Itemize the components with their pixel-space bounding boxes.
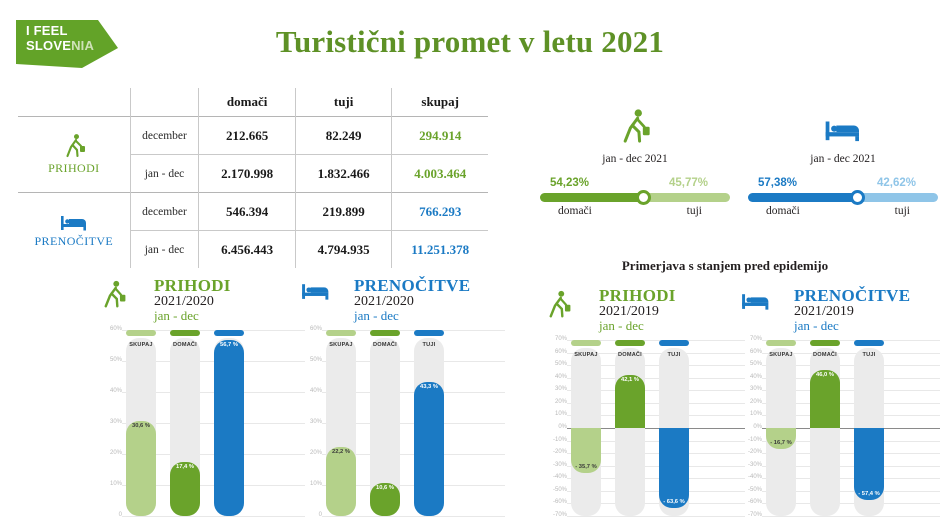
y-axis-tick: -40% [740,474,762,480]
slider-date: jan - dec 2021 [748,153,938,165]
plot-area: 010%20%30%40%50%60%SKUPAJ30,6 %DOMAČI17,… [100,330,305,516]
slider-labels: domači tuji [748,205,938,221]
chart-icon [300,280,332,306]
row-group-prihodi: PRIHODI [18,117,130,193]
y-axis-tick: -10% [545,437,567,443]
y-axis-tick: 30% [300,419,322,425]
bar [126,421,156,516]
bar-cap [170,330,200,336]
bar-category-label: DOMAČI [810,352,840,358]
chart-period: jan - dec [154,309,199,323]
y-axis-tick: 10% [545,411,567,417]
row-group-prenocitve: PRENOČITVE [18,193,130,269]
bar-cap [414,330,444,336]
bar-value-label: - 35,7 % [571,464,601,470]
bar-category-label: TUJI [659,352,689,358]
bar-cap [571,340,601,346]
bar-column: DOMAČI17,4 % [170,330,200,516]
bar-value-label: 43,3 % [414,384,444,390]
chart-header: PRENOČITVE2021/2019jan - dec [740,288,940,340]
y-axis-tick: 20% [300,450,322,456]
share-slider-prenocitve[interactable]: jan - dec 2021 57,38% 42,62% domači tuji [748,108,938,221]
chart-icon [545,290,572,327]
bar-track [615,348,645,516]
cell-domaci: 2.170.998 [199,155,296,193]
slider-handle[interactable] [850,190,865,205]
y-axis-tick: 50% [100,357,122,363]
chart-subtitle: 2021/2020 [354,294,414,309]
slider-right-label: tuji [687,205,702,217]
chart-prenocitve-2021-2020: PRENOČITVE2021/2020jan - dec010%20%30%40… [300,278,505,524]
bar-value-label: - 16,7 % [766,440,796,446]
y-axis-tick: 60% [545,349,567,355]
cell-domaci: 546.394 [199,193,296,231]
y-axis-tick: 50% [300,357,322,363]
cell-period: jan - dec [130,155,199,193]
bar-cap [370,330,400,336]
y-axis-tick: 20% [740,399,762,405]
y-axis-tick: 0% [545,424,567,430]
gridline [122,516,305,517]
y-axis-tick: 20% [545,399,567,405]
y-axis-tick: 0 [100,512,122,518]
cell-domaci: 212.665 [199,117,296,155]
summary-table: domači tuji skupaj PRIHODI december 212.… [18,88,488,268]
bar-value-label: 10,6 % [370,485,400,491]
bar-value-label: 46,0 % [810,372,840,378]
y-axis-tick: -60% [740,499,762,505]
bar-category-label: DOMAČI [615,352,645,358]
bar-column: SKUPAJ22,2 % [326,330,356,516]
walking-tourist-icon [100,280,127,312]
y-axis-tick: -30% [740,462,762,468]
chart-subtitle: 2021/2019 [794,304,854,319]
slider-left-label: domači [558,205,592,217]
slider-handle[interactable] [636,190,651,205]
page-title: Turistični promet v letu 2021 [0,24,940,60]
y-axis-tick: 0 [300,512,322,518]
slider-date: jan - dec 2021 [540,153,730,165]
y-axis-tick: 60% [100,326,122,332]
walking-tourist-icon [61,133,87,159]
slider-fill [540,193,643,202]
bar-value-label: 30,6 % [126,423,156,429]
header-blank-1 [18,88,130,117]
bed-icon [59,212,89,232]
plot-area: 70%60%50%40%30%20%10%0%-10%-20%-30%-40%-… [545,340,745,516]
bar-column: DOMAČI10,6 % [370,330,400,516]
bar [810,370,840,428]
y-axis-tick: 10% [740,411,762,417]
bar-column: TUJI43,3 % [414,330,444,516]
y-axis-tick: 30% [740,386,762,392]
cell-period: jan - dec [130,231,199,269]
header-blank-2 [130,88,199,117]
bar-column: SKUPAJ30,6 % [126,330,156,516]
y-axis-tick: -20% [740,449,762,455]
y-axis-tick: -40% [545,474,567,480]
slider-left-label: domači [766,205,800,217]
y-axis-tick: 70% [545,336,567,342]
gridline [567,516,745,517]
bar-cap [326,330,356,336]
chart-subtitle: 2021/2019 [599,304,659,319]
bar-value-label: 42,1 % [615,377,645,383]
slider-remainder [643,193,730,202]
row-label-prenocitve: PRENOČITVE [34,234,113,248]
bar-column: SKUPAJ- 16,7 % [766,340,796,516]
chart-prihodi-2021-2019: PRIHODI2021/2019jan - dec70%60%50%40%30%… [545,288,745,524]
bar-category-label: DOMAČI [170,342,200,348]
bar-column: TUJI56,7 % [214,330,244,516]
slider-right-percent: 42,62% [877,177,916,189]
bar [854,428,884,500]
cell-tuji: 219.899 [295,193,392,231]
bar [170,462,200,516]
cell-tuji: 1.832.466 [295,155,392,193]
bar-cap [854,340,884,346]
bar [414,382,444,516]
bar-cap [126,330,156,336]
infographic-page: I FEEL SLOVENIA Turistični promet v letu… [0,0,940,528]
slider-left-percent: 54,23% [550,177,589,189]
bar-value-label: 22,2 % [326,449,356,455]
bar-column: SKUPAJ- 35,7 % [571,340,601,516]
chart-header: PRIHODI2021/2020jan - dec [100,278,305,330]
bar-value-label: 56,7 % [214,342,244,348]
y-axis-tick: -70% [545,512,567,518]
chart-title: PRENOČITVE [794,286,910,306]
cell-period: december [130,117,199,155]
chart-header: PRENOČITVE2021/2020jan - dec [300,278,505,330]
slider-icon-wrap [540,108,730,152]
chart-header: PRIHODI2021/2019jan - dec [545,288,745,340]
table-header-row: domači tuji skupaj [18,88,488,117]
chart-prenocitve-2021-2019: PRENOČITVE2021/2019jan - dec70%60%50%40%… [740,288,940,524]
bar-category-label: SKUPAJ [766,352,796,358]
bar [659,428,689,508]
slider-labels: domači tuji [540,205,730,221]
bar-column: TUJI- 57,4 % [854,340,884,516]
slider-percents: 57,38% 42,62% [748,177,938,193]
bar-cap [766,340,796,346]
bar-category-label: TUJI [414,342,444,348]
bar-category-label: TUJI [854,352,884,358]
bar-category-label: SKUPAJ [126,342,156,348]
y-axis-tick: 30% [545,386,567,392]
y-axis-tick: 0% [740,424,762,430]
y-axis-tick: 30% [100,419,122,425]
bar-cap [615,340,645,346]
cell-skupaj: 766.293 [392,193,488,231]
y-axis-tick: -50% [545,487,567,493]
y-axis-tick: 40% [300,388,322,394]
bar [326,447,356,516]
y-axis-tick: 40% [740,374,762,380]
chart-title: PRENOČITVE [354,276,470,296]
gridline [762,516,940,517]
slider-right-label: tuji [895,205,910,217]
y-axis-tick: 40% [100,388,122,394]
chart-period: jan - dec [354,309,399,323]
bed-icon [300,280,332,301]
bar-value-label: - 63,6 % [659,499,689,505]
slider-fill [748,193,857,202]
header-skupaj: skupaj [392,88,488,117]
y-axis-tick: 60% [300,326,322,332]
bar-cap [214,330,244,336]
slider-icon-wrap [748,108,938,152]
chart-title: PRIHODI [599,286,676,306]
header-tuji: tuji [295,88,392,117]
bar-column: TUJI- 63,6 % [659,340,689,516]
y-axis-tick: 50% [545,361,567,367]
y-axis-tick: -50% [740,487,762,493]
table-row: PRENOČITVE december 546.394 219.899 766.… [18,193,488,231]
cell-skupaj: 11.251.378 [392,231,488,269]
bar-category-label: SKUPAJ [326,342,356,348]
y-axis-tick: -30% [545,462,567,468]
y-axis-tick: -10% [740,437,762,443]
cell-tuji: 82.249 [295,117,392,155]
y-axis-tick: -20% [545,449,567,455]
chart-title: PRIHODI [154,276,231,296]
bar-column: DOMAČI46,0 % [810,340,840,516]
y-axis-tick: 50% [740,361,762,367]
header-domaci: domači [199,88,296,117]
row-label-prihodi: PRIHODI [48,161,99,175]
cell-period: december [130,193,199,231]
walking-tourist-icon [545,290,572,322]
comparison-heading: Primerjava s stanjem pred epidemijo [510,258,940,274]
slider-remainder [857,193,938,202]
y-axis-tick: 10% [300,481,322,487]
slider-percents: 54,23% 45,77% [540,177,730,193]
y-axis-tick: 40% [545,374,567,380]
chart-icon [740,290,772,316]
y-axis-tick: -70% [740,512,762,518]
y-axis-tick: 60% [740,349,762,355]
bar-value-label: - 57,4 % [854,491,884,497]
bar-cap [810,340,840,346]
slider-track[interactable] [748,193,938,202]
y-axis-tick: 70% [740,336,762,342]
share-slider-prihodi[interactable]: jan - dec 2021 54,23% 45,77% domači tuji [540,108,730,221]
bar-value-label: 17,4 % [170,464,200,470]
bed-icon [740,290,772,311]
cell-tuji: 4.794.935 [295,231,392,269]
plot-area: 010%20%30%40%50%60%SKUPAJ22,2 %DOMAČI10,… [300,330,505,516]
bar-cap [659,340,689,346]
plot-area: 70%60%50%40%30%20%10%0%-10%-20%-30%-40%-… [740,340,940,516]
gridline [322,516,505,517]
bar-column: DOMAČI42,1 % [615,340,645,516]
table-row: PRIHODI december 212.665 82.249 294.914 [18,117,488,155]
chart-prihodi-2021-2020: PRIHODI2021/2020jan - dec010%20%30%40%50… [100,278,305,524]
walking-tourist-icon [618,108,652,148]
cell-domaci: 6.456.443 [199,231,296,269]
bar-category-label: SKUPAJ [571,352,601,358]
chart-subtitle: 2021/2020 [154,294,214,309]
slider-right-percent: 45,77% [669,177,708,189]
slider-left-percent: 57,38% [758,177,797,189]
chart-icon [100,280,127,317]
bar [214,340,244,516]
y-axis-tick: -60% [545,499,567,505]
bed-icon [823,116,863,143]
y-axis-tick: 20% [100,450,122,456]
chart-period: jan - dec [599,319,644,333]
slider-track[interactable] [540,193,730,202]
cell-skupaj: 4.003.464 [392,155,488,193]
y-axis-tick: 10% [100,481,122,487]
cell-skupaj: 294.914 [392,117,488,155]
chart-period: jan - dec [794,319,839,333]
bar-category-label: DOMAČI [370,342,400,348]
